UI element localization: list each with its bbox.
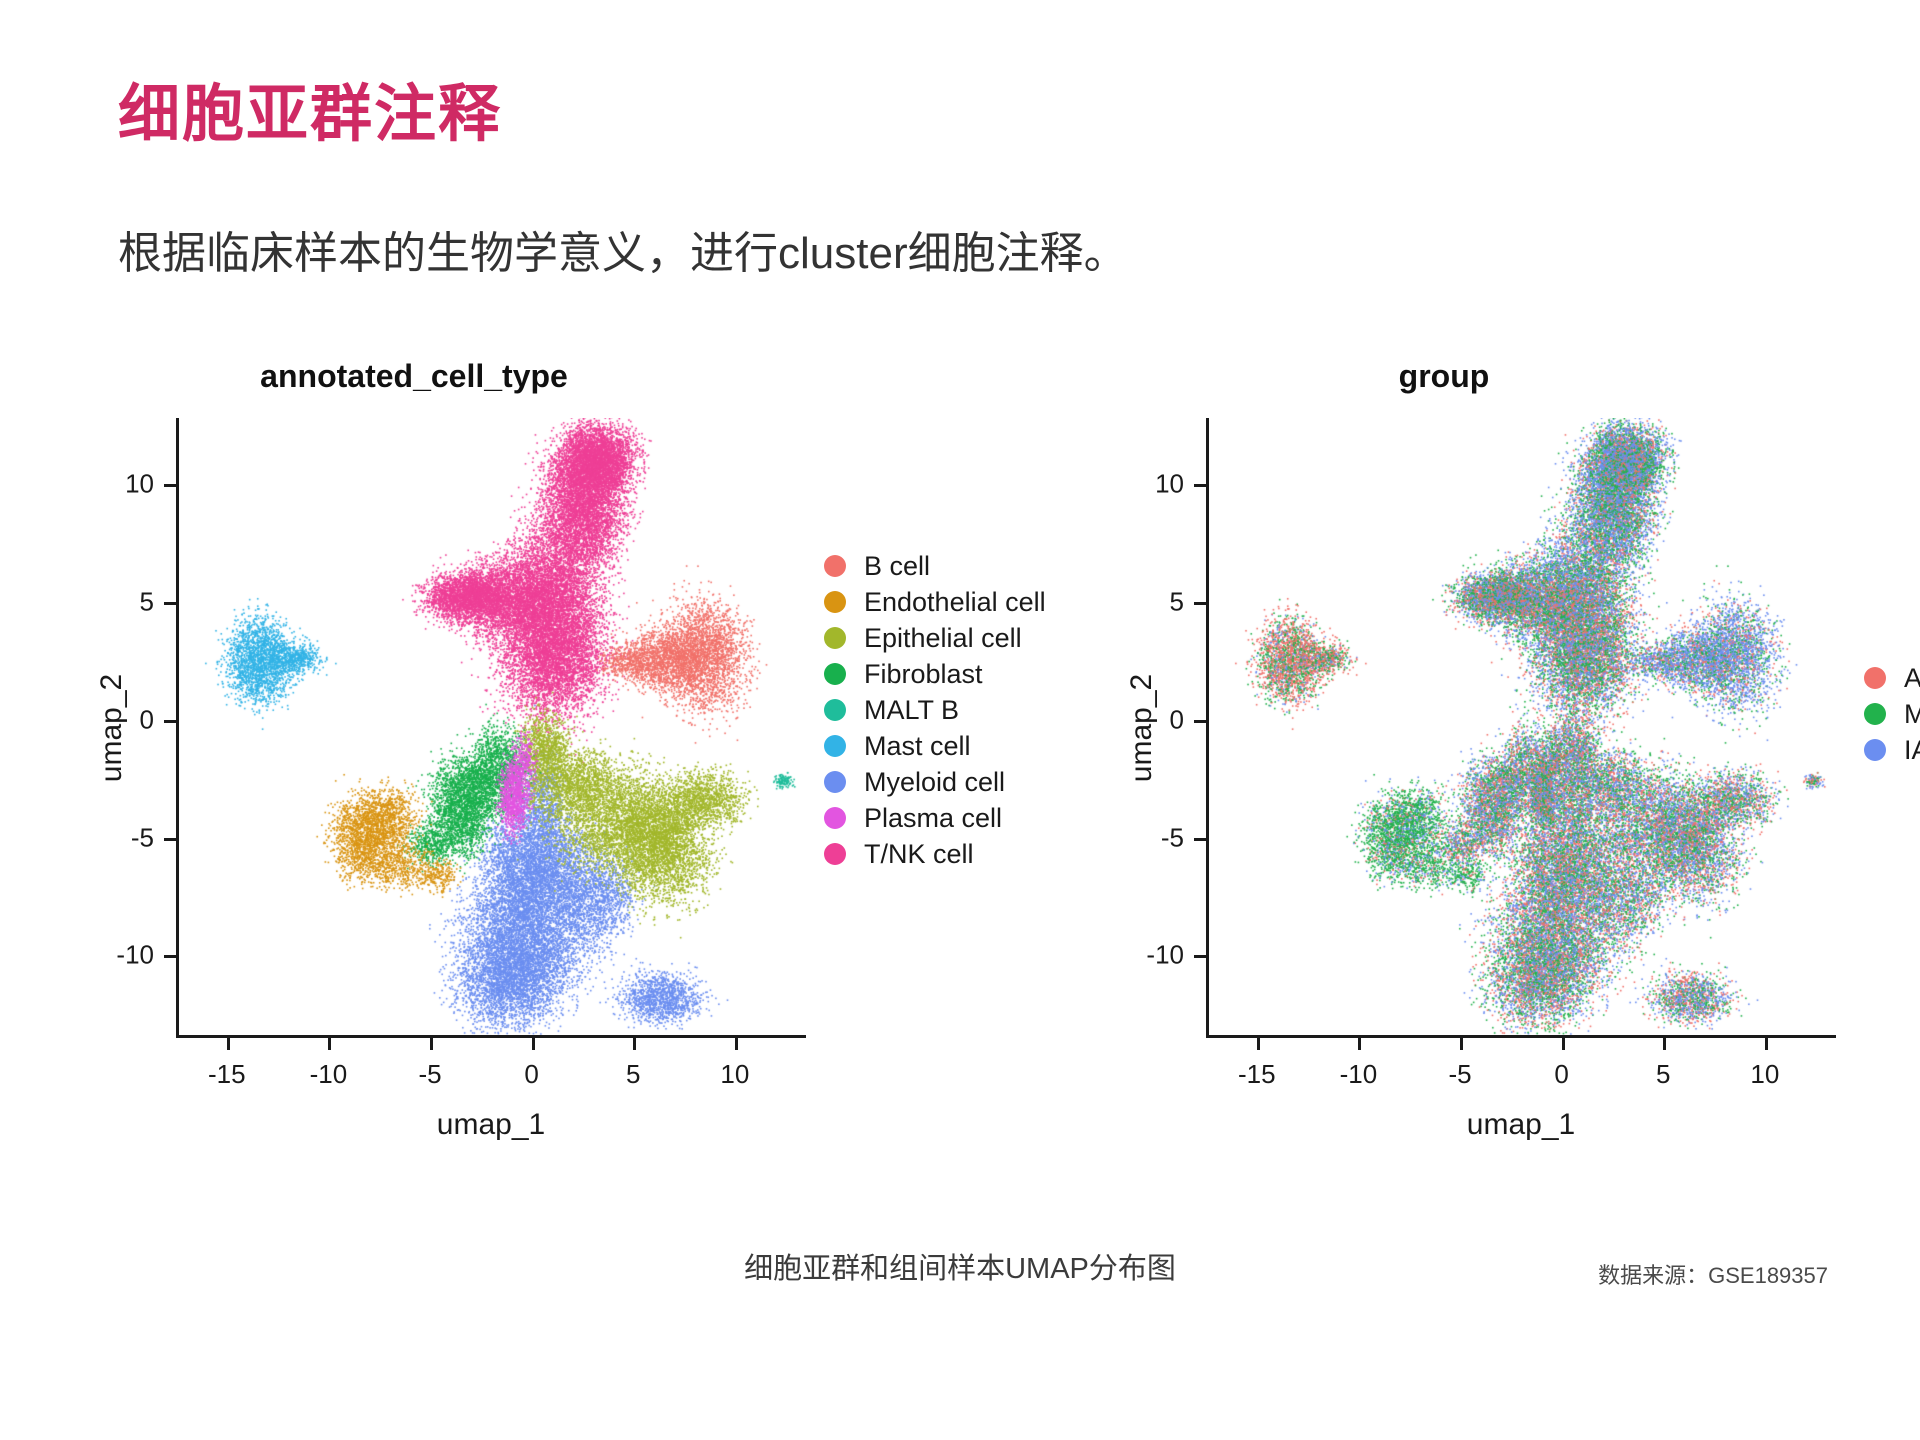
x-tick (532, 1038, 535, 1050)
x-tick-label: -10 (1340, 1059, 1378, 1090)
x-tick-label: -10 (310, 1059, 348, 1090)
x-tick (1257, 1038, 1260, 1050)
x-tick-label: -5 (418, 1059, 441, 1090)
y-tick-label: 10 (125, 469, 154, 500)
x-tick (1358, 1038, 1361, 1050)
legend-label: B cell (864, 551, 930, 582)
legend-group: AISMIAIAC (1864, 660, 1920, 768)
legend-cell-type-item[interactable]: Plasma cell (824, 800, 1046, 836)
scatter-canvas-group (1206, 418, 1836, 1038)
x-tick-label: -15 (1238, 1059, 1276, 1090)
legend-cell-type-item[interactable]: Myeloid cell (824, 764, 1046, 800)
x-tick-label: 5 (626, 1059, 640, 1090)
legend-label: Epithelial cell (864, 623, 1022, 654)
y-tick-label: 0 (140, 704, 154, 735)
y-tick (1194, 838, 1206, 841)
x-tick-label: 0 (1554, 1059, 1568, 1090)
x-tick (1562, 1038, 1565, 1050)
legend-color-swatch-icon (824, 663, 846, 685)
umap-plot-annotated-cell-type: annotated_cell_type umap_1 umap_2 -15-10… (24, 340, 1064, 1200)
page-subtitle: 根据临床样本的生物学意义，进行cluster细胞注释。 (118, 228, 1128, 281)
x-tick-label: -15 (208, 1059, 246, 1090)
legend-label: AIS (1904, 663, 1920, 694)
x-axis-line (1206, 1035, 1836, 1038)
legend-cell-type-item[interactable]: Fibroblast (824, 656, 1046, 692)
x-tick (227, 1038, 230, 1050)
y-tick (164, 484, 176, 487)
legend-color-swatch-icon (824, 627, 846, 649)
y-tick-label: -10 (116, 940, 154, 971)
y-tick-label: 0 (1170, 704, 1184, 735)
x-tick-label: 10 (1750, 1059, 1779, 1090)
data-source-note: 数据来源：GSE189357 (1598, 1258, 1828, 1290)
legend-group-item[interactable]: IAC (1864, 732, 1920, 768)
umap-plot-group: group umap_1 umap_2 -15-10-505101050-5-1… (1064, 340, 1896, 1200)
plot-title-annotated-cell-type: annotated_cell_type (24, 358, 804, 395)
y-axis-label: umap_2 (1125, 674, 1159, 782)
x-axis-label: umap_1 (1206, 1108, 1836, 1142)
legend-color-swatch-icon (824, 555, 846, 577)
x-tick (1460, 1038, 1463, 1050)
x-tick (430, 1038, 433, 1050)
x-tick (1663, 1038, 1666, 1050)
figure-panel: annotated_cell_type umap_1 umap_2 -15-10… (24, 340, 1896, 1200)
legend-cell-type-item[interactable]: Mast cell (824, 728, 1046, 764)
x-tick-label: 10 (720, 1059, 749, 1090)
legend-color-swatch-icon (1864, 703, 1886, 725)
legend-cell-type-item[interactable]: B cell (824, 548, 1046, 584)
axes-group: umap_1 umap_2 -15-10-505101050-5-10 (1206, 418, 1836, 1038)
axes-annotated-cell-type: umap_1 umap_2 -15-10-505101050-5-10 (176, 418, 806, 1038)
plot-title-group: group (1064, 358, 1824, 395)
legend-label: T/NK cell (864, 839, 974, 870)
legend-color-swatch-icon (824, 771, 846, 793)
page-title: 细胞亚群注释 (118, 82, 502, 147)
y-tick-label: -5 (131, 822, 154, 853)
y-tick (1194, 955, 1206, 958)
y-axis-line (1206, 418, 1209, 1038)
legend-label: Mast cell (864, 731, 971, 762)
x-tick-label: 0 (524, 1059, 538, 1090)
legend-label: MALT B (864, 695, 959, 726)
y-tick (164, 955, 176, 958)
x-tick-label: -5 (1448, 1059, 1471, 1090)
legend-group-item[interactable]: MIA (1864, 696, 1920, 732)
legend-color-swatch-icon (824, 699, 846, 721)
legend-label: Plasma cell (864, 803, 1002, 834)
y-tick-label: -5 (1161, 822, 1184, 853)
legend-label: IAC (1904, 735, 1920, 766)
legend-label: MIA (1904, 699, 1920, 730)
legend-color-swatch-icon (1864, 739, 1886, 761)
y-tick (1194, 602, 1206, 605)
scatter-canvas-annotated-cell-type (176, 418, 806, 1038)
y-tick (164, 720, 176, 723)
y-tick-label: -10 (1146, 940, 1184, 971)
legend-color-swatch-icon (824, 591, 846, 613)
y-tick-label: 5 (140, 586, 154, 617)
x-tick-label: 5 (1656, 1059, 1670, 1090)
y-axis-label: umap_2 (95, 674, 129, 782)
y-axis-line (176, 418, 179, 1038)
legend-cell-type-item[interactable]: T/NK cell (824, 836, 1046, 872)
y-tick (164, 602, 176, 605)
legend-label: Fibroblast (864, 659, 983, 690)
legend-cell-type-item[interactable]: Endothelial cell (824, 584, 1046, 620)
x-tick (1765, 1038, 1768, 1050)
y-tick (164, 838, 176, 841)
legend-label: Endothelial cell (864, 587, 1046, 618)
legend-color-swatch-icon (824, 807, 846, 829)
x-axis-line (176, 1035, 806, 1038)
legend-cell-type-item[interactable]: MALT B (824, 692, 1046, 728)
legend-cell-type-item[interactable]: Epithelial cell (824, 620, 1046, 656)
x-tick (633, 1038, 636, 1050)
x-tick (735, 1038, 738, 1050)
legend-color-swatch-icon (824, 735, 846, 757)
x-tick (328, 1038, 331, 1050)
legend-annotated-cell-type: B cellEndothelial cellEpithelial cellFib… (824, 548, 1046, 872)
y-tick-label: 5 (1170, 586, 1184, 617)
legend-color-swatch-icon (1864, 667, 1886, 689)
y-tick (1194, 720, 1206, 723)
legend-label: Myeloid cell (864, 767, 1005, 798)
y-tick-label: 10 (1155, 469, 1184, 500)
x-axis-label: umap_1 (176, 1108, 806, 1142)
legend-group-item[interactable]: AIS (1864, 660, 1920, 696)
legend-color-swatch-icon (824, 843, 846, 865)
y-tick (1194, 484, 1206, 487)
